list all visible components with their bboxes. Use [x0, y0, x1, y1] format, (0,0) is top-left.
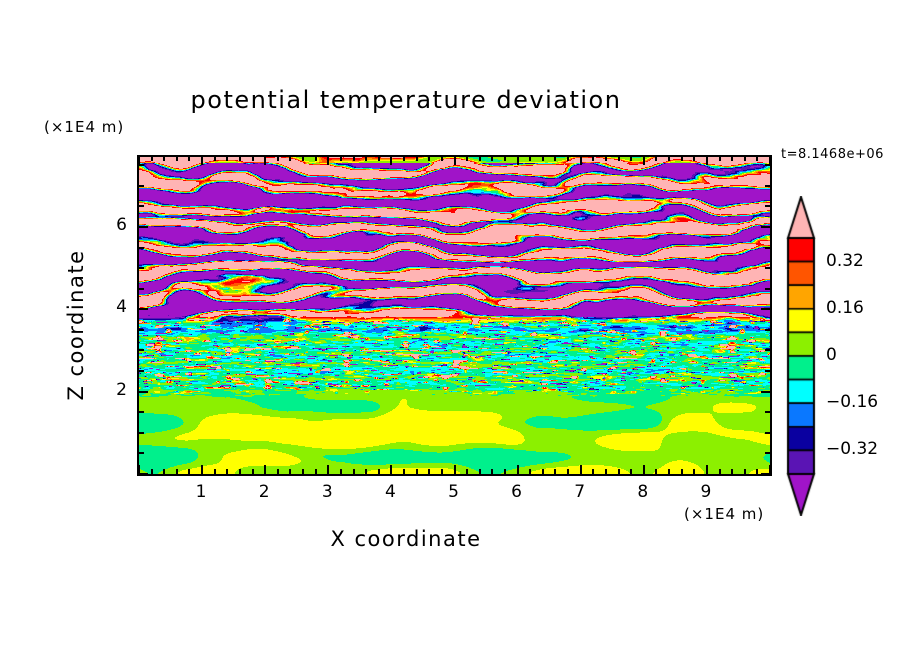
y-minor-tick	[139, 205, 144, 207]
x-major-tick-top	[706, 156, 708, 165]
y-minor-tick-right	[765, 329, 770, 331]
x-tick-label: 9	[686, 482, 726, 502]
y-minor-tick-right	[765, 164, 770, 166]
x-minor-tick	[731, 469, 733, 474]
x-tick-label: 5	[434, 482, 474, 502]
x-minor-tick-top	[239, 156, 241, 161]
x-minor-tick	[466, 469, 468, 474]
x-minor-tick	[151, 469, 153, 474]
x-minor-tick	[353, 469, 355, 474]
y-major-tick	[139, 391, 148, 393]
colorbar-tick-label: 0	[826, 345, 837, 365]
x-minor-tick	[618, 469, 620, 474]
colorbar: 0.320.160−0.16−0.32	[786, 196, 816, 516]
x-minor-tick	[554, 469, 556, 474]
x-minor-tick-top	[618, 156, 620, 161]
x-minor-tick	[491, 469, 493, 474]
x-major-tick	[643, 465, 645, 474]
x-minor-tick-top	[605, 156, 607, 161]
z-axis-unit-label: (×1E4 m)	[44, 118, 124, 136]
y-minor-tick	[139, 370, 144, 372]
x-minor-tick-top	[756, 156, 758, 161]
x-minor-tick	[315, 469, 317, 474]
x-major-tick-top	[264, 156, 266, 165]
x-minor-tick-top	[428, 156, 430, 161]
y-major-tick-right	[761, 391, 770, 393]
y-minor-tick	[139, 432, 144, 434]
x-minor-tick-top	[668, 156, 670, 161]
x-minor-tick-top	[163, 156, 165, 161]
y-minor-tick	[139, 452, 144, 454]
x-minor-tick	[605, 469, 607, 474]
x-minor-tick-top	[441, 156, 443, 161]
x-minor-tick-top	[719, 156, 721, 161]
x-minor-tick-top	[466, 156, 468, 161]
x-minor-tick-top	[542, 156, 544, 161]
x-minor-tick	[403, 469, 405, 474]
x-minor-tick-top	[226, 156, 228, 161]
y-minor-tick	[139, 349, 144, 351]
page-title: potential temperature deviation	[0, 86, 858, 114]
x-minor-tick	[630, 469, 632, 474]
x-tick-label: 4	[370, 482, 410, 502]
x-major-tick	[454, 465, 456, 474]
x-minor-tick-top	[151, 156, 153, 161]
y-minor-tick-right	[765, 349, 770, 351]
x-major-tick-top	[201, 156, 203, 165]
x-minor-tick	[744, 469, 746, 474]
x-minor-tick-top	[188, 156, 190, 161]
x-minor-tick-top	[744, 156, 746, 161]
x-minor-tick-top	[554, 156, 556, 161]
x-tick-label: 6	[497, 482, 537, 502]
x-minor-tick	[340, 469, 342, 474]
y-minor-tick-right	[765, 267, 770, 269]
colorbar-gradient	[786, 196, 816, 516]
x-minor-tick	[289, 469, 291, 474]
plot-area	[137, 155, 772, 476]
x-minor-tick	[302, 469, 304, 474]
x-minor-tick-top	[630, 156, 632, 161]
y-major-tick	[139, 226, 148, 228]
colorbar-tick-label: 0.16	[826, 298, 864, 318]
x-minor-tick	[365, 469, 367, 474]
y-minor-tick-right	[765, 185, 770, 187]
x-minor-tick-top	[504, 156, 506, 161]
x-minor-tick	[226, 469, 228, 474]
x-axis-unit-label: (×1E4 m)	[684, 505, 764, 523]
y-tick-label: 2	[87, 380, 127, 400]
x-minor-tick-top	[693, 156, 695, 161]
x-minor-tick	[504, 469, 506, 474]
x-minor-tick	[428, 469, 430, 474]
x-minor-tick	[668, 469, 670, 474]
x-major-tick	[201, 465, 203, 474]
y-minor-tick-right	[765, 205, 770, 207]
colorbar-tick-label: −0.32	[826, 439, 878, 459]
x-major-tick-top	[390, 156, 392, 165]
x-major-tick-top	[327, 156, 329, 165]
x-minor-tick	[416, 469, 418, 474]
y-minor-tick	[139, 411, 144, 413]
x-minor-tick	[239, 469, 241, 474]
x-minor-tick-top	[252, 156, 254, 161]
y-major-tick-right	[761, 308, 770, 310]
x-minor-tick-top	[340, 156, 342, 161]
y-minor-tick	[139, 185, 144, 187]
y-minor-tick-right	[765, 411, 770, 413]
x-minor-tick	[176, 469, 178, 474]
x-minor-tick	[252, 469, 254, 474]
y-tick-label: 6	[87, 215, 127, 235]
x-minor-tick-top	[315, 156, 317, 161]
x-minor-tick	[542, 469, 544, 474]
y-minor-tick	[139, 288, 144, 290]
x-tick-label: 2	[244, 482, 284, 502]
x-minor-tick	[479, 469, 481, 474]
y-minor-tick	[139, 267, 144, 269]
x-major-tick	[706, 465, 708, 474]
x-minor-tick-top	[214, 156, 216, 161]
timestamp-annotation: t=8.1468e+06	[781, 147, 884, 162]
y-minor-tick-right	[765, 370, 770, 372]
x-minor-tick-top	[176, 156, 178, 161]
x-minor-tick-top	[529, 156, 531, 161]
y-minor-tick	[139, 329, 144, 331]
x-tick-label: 1	[181, 482, 221, 502]
x-minor-tick-top	[567, 156, 569, 161]
x-minor-tick-top	[277, 156, 279, 161]
x-minor-tick	[681, 469, 683, 474]
x-minor-tick	[163, 469, 165, 474]
x-minor-tick	[188, 469, 190, 474]
x-minor-tick	[655, 469, 657, 474]
y-minor-tick	[139, 247, 144, 249]
x-major-tick	[580, 465, 582, 474]
x-minor-tick	[277, 469, 279, 474]
x-minor-tick-top	[403, 156, 405, 161]
x-minor-tick	[214, 469, 216, 474]
x-minor-tick-top	[302, 156, 304, 161]
x-minor-tick	[719, 469, 721, 474]
x-major-tick	[517, 465, 519, 474]
x-minor-tick	[567, 469, 569, 474]
x-tick-label: 7	[560, 482, 600, 502]
y-minor-tick-right	[765, 288, 770, 290]
x-minor-tick	[529, 469, 531, 474]
x-major-tick-top	[643, 156, 645, 165]
x-minor-tick-top	[378, 156, 380, 161]
x-minor-tick	[441, 469, 443, 474]
x-minor-tick	[693, 469, 695, 474]
x-major-tick	[327, 465, 329, 474]
y-minor-tick	[139, 164, 144, 166]
x-minor-tick-top	[289, 156, 291, 161]
x-minor-tick-top	[681, 156, 683, 161]
x-minor-tick-top	[491, 156, 493, 161]
y-minor-tick-right	[765, 247, 770, 249]
x-tick-label: 3	[307, 482, 347, 502]
y-axis-title: Z coordinate	[64, 225, 88, 425]
y-major-tick-right	[761, 226, 770, 228]
x-minor-tick-top	[731, 156, 733, 161]
x-minor-tick	[756, 469, 758, 474]
colorbar-tick-label: −0.16	[826, 392, 878, 412]
y-tick-label: 4	[87, 297, 127, 317]
x-minor-tick-top	[365, 156, 367, 161]
y-major-tick	[139, 308, 148, 310]
y-major-tick	[139, 473, 148, 475]
y-minor-tick-right	[765, 452, 770, 454]
colorbar-tick-label: 0.32	[826, 251, 864, 271]
x-minor-tick	[592, 469, 594, 474]
x-tick-label: 8	[623, 482, 663, 502]
y-minor-tick-right	[765, 432, 770, 434]
x-minor-tick	[378, 469, 380, 474]
x-axis-title: X coordinate	[0, 527, 858, 551]
x-minor-tick-top	[655, 156, 657, 161]
y-major-tick-right	[761, 473, 770, 475]
contour-field	[139, 157, 770, 474]
x-minor-tick-top	[592, 156, 594, 161]
x-minor-tick-top	[353, 156, 355, 161]
x-major-tick-top	[580, 156, 582, 165]
x-major-tick-top	[454, 156, 456, 165]
x-minor-tick-top	[479, 156, 481, 161]
figure-canvas: potential temperature deviation (×1E4 m)…	[0, 0, 904, 654]
x-major-tick	[264, 465, 266, 474]
x-minor-tick-top	[416, 156, 418, 161]
x-major-tick	[390, 465, 392, 474]
x-major-tick-top	[517, 156, 519, 165]
